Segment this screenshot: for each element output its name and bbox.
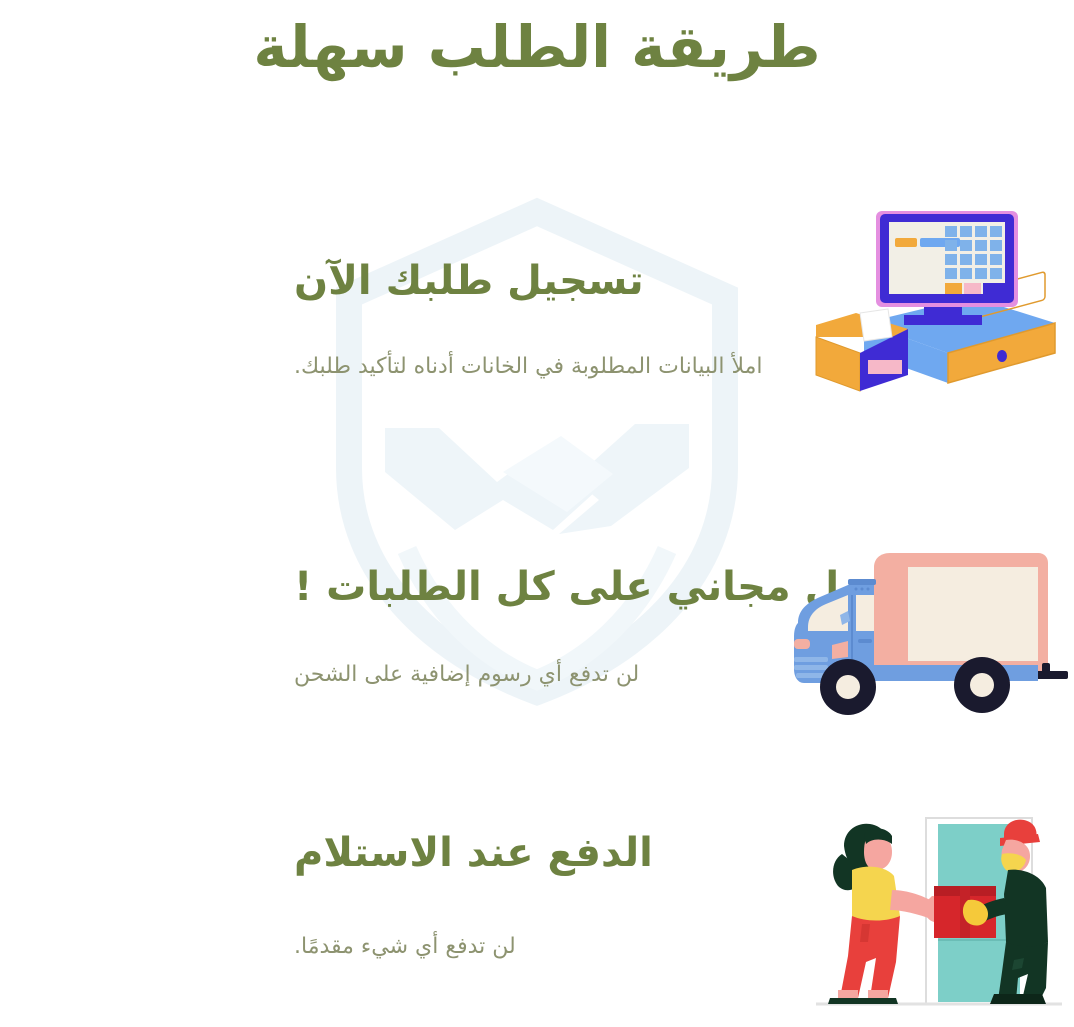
desktop-computer-icon [812, 205, 1062, 400]
page-title: طريقة الطلب سهلة [0, 8, 1074, 86]
delivery-truck-icon [786, 545, 1071, 735]
step-free-delivery: توصيل مجاني على كل الطلبات ! لن تدفع أي … [0, 540, 1074, 760]
step-register-order: تسجيل طلبك الآن املأ البيانات المطلوبة ف… [0, 200, 1074, 420]
cash-on-delivery-icon [808, 812, 1070, 1017]
order-steps-page: طريقة الطلب سهلة تسجيل طلبك الآن املأ ال… [0, 0, 1074, 1027]
step-cash-on-delivery: الدفع عند الاستلام لن تدفع أي شيء مقدمًا… [0, 812, 1074, 1027]
